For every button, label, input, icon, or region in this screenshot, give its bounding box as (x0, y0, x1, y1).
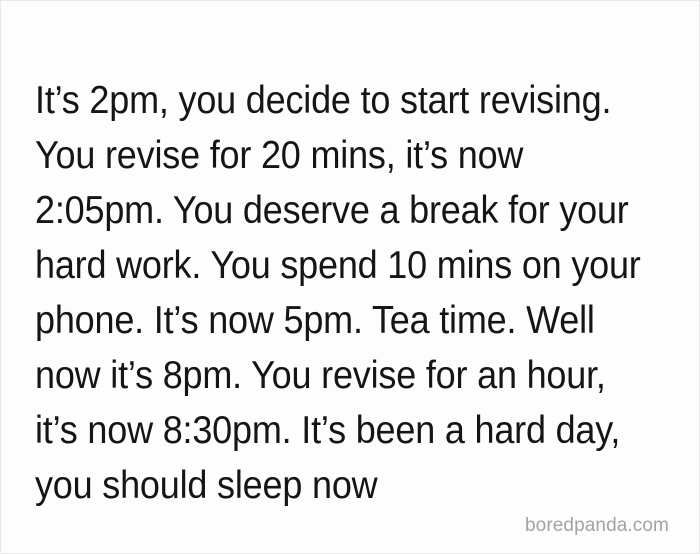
meme-text-line: hard work. You spend 10 mins on your (35, 238, 633, 293)
watermark-label: boredpanda.com (525, 515, 669, 537)
meme-text-line: You revise for 20 mins, it’s now (35, 128, 633, 183)
meme-text-line: 2:05pm. You deserve a break for your (35, 183, 633, 238)
meme-text-line: It’s 2pm, you decide to start revising. (35, 73, 633, 128)
meme-text-line: it’s now 8:30pm. It’s been a hard day, (35, 403, 633, 458)
meme-text-line: phone. It’s now 5pm. Tea time. Well (35, 293, 633, 348)
meme-card: It’s 2pm, you decide to start revising. … (0, 0, 700, 554)
meme-text-block: It’s 2pm, you decide to start revising. … (35, 73, 675, 513)
meme-text-line: now it’s 8pm. You revise for an hour, (35, 348, 633, 403)
meme-text-line: you should sleep now (35, 458, 633, 513)
